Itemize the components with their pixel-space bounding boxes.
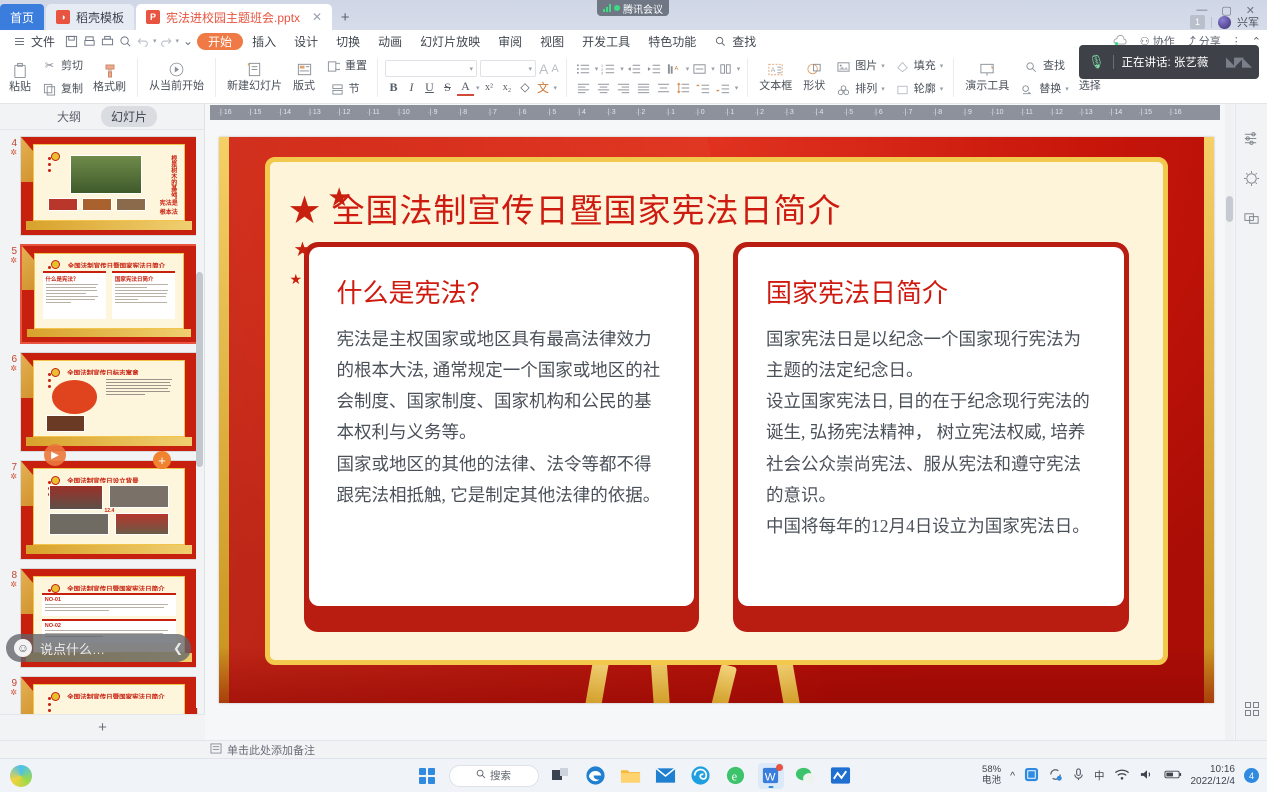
wechat-icon[interactable]: [793, 763, 819, 789]
divider: [747, 58, 748, 97]
slide-number: 5✲: [4, 244, 20, 266]
align-text-button[interactable]: [690, 60, 709, 77]
play-slideshow-button[interactable]: ▶: [44, 444, 66, 466]
slide-number: 4✲: [4, 136, 20, 158]
docer-icon: ◑: [56, 10, 70, 24]
ruler-tick: ·|·9: [952, 109, 982, 116]
ruler-tick: ·|·7: [477, 109, 507, 116]
cut-button[interactable]: ✂ 剪切: [38, 56, 86, 77]
slide-number: 9✲: [4, 676, 20, 698]
hamburger-icon: [11, 33, 28, 50]
gold-edge-right: [1204, 137, 1214, 703]
content-card-right[interactable]: 国家宪法日简介 国家宪法日是以纪念一个国家现行宪法为主题的法定纪念日。 设立国家…: [733, 242, 1129, 632]
chevron-down-icon[interactable]: ▾: [881, 86, 885, 94]
outline-button[interactable]: 轮廓 ▾: [891, 79, 947, 100]
ruler-tick: ·|·14: [269, 109, 299, 116]
cut-label: 剪切: [61, 60, 83, 72]
line-spacing-button[interactable]: [674, 79, 693, 96]
tab-label: 宪法进校园主题班会.pptx: [166, 9, 300, 26]
badge-icon: [776, 764, 783, 771]
ribbon-tab-transition[interactable]: 切换: [327, 31, 369, 51]
ruler-tick: ·|·16: [1160, 109, 1190, 116]
ruler-tick: ·|·0: [685, 109, 715, 116]
grid-view-icon[interactable]: [1244, 701, 1260, 722]
list-item[interactable]: 9✲ 全国法制宣传日暨国家宪法日简介: [0, 676, 205, 714]
star-decoration-icon: ★: [288, 192, 322, 230]
ie-icon[interactable]: e: [723, 763, 749, 789]
system-tray: 58% 电池 ^ 中 10:16: [982, 764, 1259, 787]
right-tool-rail: [1235, 104, 1267, 740]
chevron-down-icon[interactable]: ▾: [711, 65, 715, 73]
divider: [137, 58, 138, 97]
ruler-tick: ·|·9: [418, 109, 448, 116]
speaking-label: 正在讲话: 张艺薇: [1122, 54, 1209, 70]
decrease-indent-button[interactable]: [625, 60, 644, 77]
chevron-down-icon[interactable]: ▾: [881, 63, 885, 71]
copy-label: 复制: [61, 83, 83, 95]
section-icon: [329, 81, 346, 98]
section-label: 节: [349, 83, 360, 95]
tab-label: 稻壳模板: [76, 9, 124, 26]
wps-icon[interactable]: W: [758, 763, 784, 789]
chevron-down-icon[interactable]: ▾: [686, 65, 690, 73]
save-icon[interactable]: [62, 32, 80, 50]
picture-button[interactable]: 图片 ▾: [832, 56, 888, 77]
ruler-tick: ·|·15: [1130, 109, 1160, 116]
ruler-tick: ·|·3: [596, 109, 626, 116]
ruler-tick: ·|·4: [804, 109, 834, 116]
chat-placeholder: 说点什么…: [40, 639, 165, 658]
card-paragraph: 中国将每年的12月4日设立为国家宪法日。: [766, 511, 1096, 542]
edge-icon[interactable]: [583, 763, 609, 789]
thumb-title: 全国法制宣传日暨国家宪法日简介: [67, 583, 172, 591]
sync-icon[interactable]: [1048, 767, 1063, 785]
divider: [377, 58, 378, 97]
divider: [215, 58, 216, 97]
ruler-tick: ·|·1: [715, 109, 745, 116]
stock-app-icon[interactable]: [828, 763, 854, 789]
close-icon[interactable]: ✕: [312, 11, 322, 23]
card-paragraph: 国家宪法日是以纪念一个国家现行宪法为主题的法定纪念日。: [766, 324, 1096, 386]
current-slide-canvas[interactable]: ★ ★ ★ ★ 全国法制宣传日暨国家宪法日简介 什么是宪法？ 宪法是主权国家或地…: [219, 137, 1214, 703]
search-input[interactable]: 搜索: [449, 765, 539, 787]
print-preview-icon[interactable]: [80, 32, 98, 50]
space-before-button[interactable]: [694, 79, 713, 96]
recording-dot-icon: [614, 5, 620, 11]
avatar[interactable]: [1218, 16, 1231, 29]
ruler-tick: ·|·10: [388, 109, 418, 116]
duplicate-icon[interactable]: [1243, 210, 1260, 232]
layout-button[interactable]: 版式: [289, 59, 319, 96]
tab-strip: 首页 ◑ 稻壳模板 P 宪法进校园主题班会.pptx ✕ + 腾讯会议 — ▢ …: [0, 0, 1267, 30]
underline-button[interactable]: U: [421, 79, 438, 96]
ruler-tick: ·|·16: [210, 109, 240, 116]
superscript-button[interactable]: x²: [481, 79, 498, 96]
ribbon-tab-devtools[interactable]: 开发工具: [573, 31, 639, 51]
divider: [953, 58, 954, 97]
thumb-title: 全国法制宣传日标志寓意: [67, 367, 172, 375]
tab-docer-template[interactable]: ◑ 稻壳模板: [46, 4, 134, 30]
ruler-tick: ·|·5: [833, 109, 863, 116]
windows-taskbar: 搜索 e W: [0, 758, 1267, 792]
distribute-button[interactable]: [654, 79, 673, 96]
search-icon: [476, 769, 486, 782]
thumb-title: 全国法制宣传日暨国家宪法日简介: [67, 691, 172, 699]
time-label: 10:16: [1191, 764, 1236, 776]
svg-text:3: 3: [601, 71, 603, 74]
screenshot-icon[interactable]: [1024, 767, 1039, 785]
ruler-tick: ·|·8: [923, 109, 953, 116]
chevron-down-icon[interactable]: ▾: [469, 65, 473, 73]
ribbon-toolbar: 粘贴 ✂ 剪切 复制 格式刷: [0, 52, 1267, 104]
design-ideas-icon[interactable]: [1243, 170, 1260, 192]
align-right-button[interactable]: [614, 79, 633, 96]
tab-outline[interactable]: 大纲: [47, 106, 91, 127]
columns-button[interactable]: [716, 60, 735, 77]
ime-indicator[interactable]: 中: [1094, 768, 1105, 783]
content-card-left[interactable]: 什么是宪法？ 宪法是主权国家或地区具有最高法律效力的根本大法, 通常规定一个国家…: [304, 242, 700, 632]
chevron-left-icon[interactable]: ❮: [173, 641, 183, 655]
battery-label: 电池: [982, 776, 1001, 787]
slide-thumbnail[interactable]: 全国法制宣传日暨国家宪法日简介: [20, 676, 198, 714]
list-item[interactable]: 4✲ 根是树木的基础。 宪法是根本法: [0, 136, 205, 244]
tab-home[interactable]: 首页: [0, 4, 44, 30]
notes-placeholder: 单击此处添加备注: [227, 742, 315, 758]
cut-icon: ✂: [41, 58, 58, 75]
ruler-tick: ·|·11: [358, 109, 388, 116]
chevron-down-icon[interactable]: ▾: [620, 65, 624, 73]
align-center-button[interactable]: [594, 79, 613, 96]
layout-icon: [296, 61, 313, 78]
fill-label: 填充: [914, 60, 936, 72]
slide-thumbnail-selected[interactable]: 全国法制宣传日暨国家宪法日简介 什么是宪法？ 国家宪法日简介: [20, 244, 198, 344]
ribbon-tab-slideshow[interactable]: 幻灯片放映: [411, 31, 489, 51]
taskbar-apps: 搜索 e W: [414, 763, 854, 789]
italic-button[interactable]: I: [403, 79, 420, 96]
card-body: 宪法是主权国家或地区具有最高法律效力的根本大法, 通常规定一个国家或地区的社会制…: [337, 324, 667, 511]
mail-icon[interactable]: [653, 763, 679, 789]
navigator-tabs: 大纲 幻灯片: [0, 104, 204, 130]
date-label: 2022/12/4: [1191, 776, 1236, 788]
slide-thumbnail-list[interactable]: 4✲ 根是树木的基础。 宪法是根本法: [0, 130, 205, 714]
align-left-button[interactable]: [574, 79, 593, 96]
shape-icon: [806, 61, 823, 78]
justify-button[interactable]: [634, 79, 653, 96]
copy-icon: [41, 81, 58, 98]
textbox-label: 文本框: [759, 80, 792, 92]
notification-badge[interactable]: 1: [1190, 15, 1205, 29]
font-color-button[interactable]: A: [457, 79, 474, 96]
ribbon-tab-view[interactable]: 视图: [531, 31, 573, 51]
textbox-icon: A: [767, 61, 784, 78]
undo-icon[interactable]: [134, 32, 152, 50]
notes-button[interactable]: 单击此处添加备注: [0, 742, 315, 758]
list-item[interactable]: 6✲ 全国法制宣传日标志寓意: [0, 352, 205, 460]
chevron-down-icon[interactable]: ▾: [1065, 86, 1069, 94]
section-button[interactable]: 节: [322, 79, 370, 100]
meeting-status-badge[interactable]: 腾讯会议: [597, 0, 669, 16]
plus-icon[interactable]: +: [98, 719, 107, 736]
format-painter-icon: [101, 62, 118, 79]
ruler-tick: ·|·11: [1012, 109, 1042, 116]
paste-button[interactable]: 粘贴: [5, 60, 35, 95]
paste-icon: [12, 62, 29, 79]
active-indicator: [768, 786, 773, 788]
find-label: 查找: [732, 33, 756, 50]
slide-number: 6✲: [4, 352, 20, 374]
tab-slides[interactable]: 幻灯片: [101, 106, 157, 127]
ppt-icon: P: [146, 10, 160, 24]
replace-icon: [1019, 81, 1036, 98]
select-label: 选择: [1079, 80, 1101, 92]
chevron-down-icon[interactable]: ▾: [595, 65, 599, 73]
menu-file[interactable]: 文件: [4, 31, 62, 51]
chevron-down-icon[interactable]: ▾: [476, 84, 480, 92]
arrange-label: 排列: [855, 83, 877, 95]
ribbon-find-button[interactable]: 查找: [705, 31, 763, 51]
find-icon: [1023, 58, 1040, 75]
chevron-down-icon[interactable]: ▾: [528, 65, 532, 73]
gold-edge-left: [219, 137, 229, 703]
ribbon-tab-design[interactable]: 设计: [285, 31, 327, 51]
ruler-tick: ·|·1: [655, 109, 685, 116]
slide-title[interactable]: 全国法制宣传日暨国家宪法日简介: [332, 184, 842, 232]
battery-status[interactable]: 58% 电池: [982, 765, 1001, 787]
font-size-input[interactable]: ▾: [480, 60, 536, 77]
battery-percent: 58%: [982, 765, 1001, 776]
ruler-tick: ·|·6: [507, 109, 537, 116]
clock[interactable]: 10:16 2022/12/4: [1191, 764, 1236, 787]
numbering-button[interactable]: 123: [599, 60, 618, 77]
ruler-tick: ·|·13: [1071, 109, 1101, 116]
slide-thumbnail[interactable]: 全国法制宣传日设立背景 12.4: [20, 460, 198, 560]
svg-text:e: e: [732, 769, 738, 783]
slide-thumbnail[interactable]: 根是树木的基础。 宪法是根本法: [20, 136, 198, 236]
menu-bar: 文件 ▾ ▾ ⌄ 开始 插入 设计 切换 动画 幻灯片放映 审阅 视图 开发工具: [0, 30, 1267, 52]
outline-icon: [894, 81, 911, 98]
ruler-tick: ·|·15: [240, 109, 270, 116]
card-body: 国家宪法日是以纪念一个国家现行宪法为主题的法定纪念日。 设立国家宪法日, 目的在…: [766, 324, 1096, 542]
fill-button[interactable]: 填充 ▾: [891, 56, 947, 77]
chevron-down-icon[interactable]: ▾: [940, 63, 944, 71]
ribbon-tab-review[interactable]: 审阅: [489, 31, 531, 51]
file-explorer-icon[interactable]: [618, 763, 644, 789]
svg-text:A: A: [674, 65, 678, 71]
present-tool-label: 演示工具: [965, 80, 1009, 92]
ribbon-group-start-show: 从当前开始: [140, 52, 213, 104]
format-painter-label: 格式刷: [93, 81, 126, 93]
ruler-ticks: ·|·16·|·15·|·14·|·13·|·12·|·11·|·10·|·9·…: [210, 105, 1190, 120]
card-paragraph: 设立国家宪法日, 目的在于纪念现行宪法的诞生, 弘扬宪法精神， 树立宪法权威, …: [766, 386, 1096, 511]
ribbon-group-paragraph: ▾ 123 ▾ A ▾: [569, 52, 746, 104]
slide-settings-icon[interactable]: [1243, 130, 1260, 152]
thumb-title: 全国法制宣传日设立背景: [67, 475, 172, 483]
status-bar: 单击此处添加备注: [0, 740, 1267, 758]
slide-thumbnail[interactable]: 全国法制宣传日标志寓意: [20, 352, 198, 452]
chevron-down-icon[interactable]: ▾: [940, 86, 944, 94]
format-painter-button[interactable]: 格式刷: [89, 60, 130, 95]
slide-content-panel: ★ ★ ★ ★ 全国法制宣传日暨国家宪法日简介 什么是宪法？ 宪法是主权国家或地…: [265, 157, 1168, 665]
ruler-tick: ·|·10: [982, 109, 1012, 116]
thumb-title: 全国法制宣传日暨国家宪法日简介: [68, 260, 171, 268]
signal-icon: [603, 4, 611, 12]
smiley-icon[interactable]: ☺: [14, 639, 32, 657]
chevron-down-icon[interactable]: ▾: [554, 84, 558, 92]
text-direction-button[interactable]: A: [665, 60, 684, 77]
arrange-button[interactable]: 排列 ▾: [832, 79, 888, 100]
customize-qat-icon[interactable]: ⌄: [179, 32, 197, 50]
play-from-current-icon: [168, 61, 185, 78]
present-tool-button[interactable]: 演示工具: [961, 59, 1013, 96]
pinyin-button[interactable]: 文: [535, 79, 552, 96]
present-tool-icon: [979, 61, 996, 78]
replace-button[interactable]: 替换 ▾: [1016, 79, 1072, 100]
battery-icon[interactable]: [1164, 769, 1182, 783]
start-from-current-label: 从当前开始: [149, 80, 204, 92]
list-item[interactable]: 7✲ 全国法制宣传日设立背景 12.4: [0, 460, 205, 568]
font-name-input[interactable]: ▾: [385, 60, 477, 77]
copy-button[interactable]: 复制: [38, 79, 86, 100]
bullets-button[interactable]: [574, 60, 593, 77]
slide-editor-area: ·|·16·|·15·|·14·|·13·|·12·|·11·|·10·|·9·…: [205, 104, 1235, 740]
ribbon-group-slides: 新建幻灯片 版式 重置: [218, 52, 375, 104]
menu-file-label: 文件: [31, 33, 55, 50]
ruler-tick: ·|·12: [1041, 109, 1071, 116]
layout-label: 版式: [293, 80, 315, 92]
ribbon-group-font: ▾ ▾ A A B I U S A ▾ x² x: [380, 52, 564, 104]
fill-icon: [894, 58, 911, 75]
tab-presentation-file[interactable]: P 宪法进校园主题班会.pptx ✕: [136, 4, 332, 30]
strikethrough-button[interactable]: S: [439, 79, 456, 96]
ruler-tick: ·|·4: [566, 109, 596, 116]
outline-label: 轮廓: [914, 83, 936, 95]
meeting-label: 腾讯会议: [623, 1, 663, 16]
picture-label: 图片: [855, 60, 877, 72]
picture-icon: [835, 58, 852, 75]
notification-center-badge[interactable]: 4: [1244, 768, 1259, 783]
search-placeholder: 搜索: [490, 768, 511, 783]
search-doc-icon[interactable]: [116, 32, 134, 50]
increase-indent-button[interactable]: [645, 60, 664, 77]
card-paragraph: 宪法是主权国家或地区具有最高法律效力的根本大法, 通常规定一个国家或地区的社会制…: [337, 324, 667, 449]
ruler-tick: ·|·12: [329, 109, 359, 116]
textbox-button[interactable]: A 文本框: [755, 59, 796, 96]
volume-icon[interactable]: [1139, 768, 1155, 784]
ruler-tick: ·|·2: [744, 109, 774, 116]
divider: [1113, 55, 1114, 69]
navigator-scrollbar-thumb[interactable]: [196, 272, 203, 467]
desktop-orb-icon[interactable]: [10, 765, 32, 787]
horizontal-ruler[interactable]: ·|·16·|·15·|·14·|·13·|·12·|·11·|·10·|·9·…: [210, 105, 1220, 120]
ruler-tick: ·|·8: [448, 109, 478, 116]
slide-stage: ★ ★ ★ ★ 全国法制宣传日暨国家宪法日简介 什么是宪法？ 宪法是主权国家或地…: [205, 126, 1227, 734]
slide-navigator-panel: 大纲 幻灯片 4✲: [0, 104, 205, 740]
slide-card-row: 什么是宪法？ 宪法是主权国家或地区具有最高法律效力的根本大法, 通常规定一个国家…: [304, 242, 1129, 632]
ribbon-tab-insert[interactable]: 插入: [243, 31, 285, 51]
new-slide-button[interactable]: 新建幻灯片: [223, 59, 286, 96]
ribbon-group-insert: A 文本框 形状 图片 ▾: [750, 52, 951, 104]
new-slide-icon: [246, 61, 263, 78]
space-after-button[interactable]: [714, 79, 733, 96]
ruler-tick: ·|·3: [774, 109, 804, 116]
bold-button[interactable]: B: [385, 79, 402, 96]
find-button[interactable]: 查找: [1016, 56, 1072, 77]
chevron-down-icon[interactable]: ▾: [737, 65, 741, 73]
reset-button[interactable]: 重置: [322, 56, 370, 77]
ruler-tick: ·|·7: [893, 109, 923, 116]
clear-format-button[interactable]: ◇: [517, 79, 534, 96]
shape-button[interactable]: 形状: [799, 59, 829, 96]
card-heading: 国家宪法日简介: [766, 273, 1096, 310]
shape-label: 形状: [803, 80, 825, 92]
slide-number: 8✲: [4, 568, 20, 590]
ribbon-tab-animation[interactable]: 动画: [369, 31, 411, 51]
ribbon-tab-start[interactable]: 开始: [197, 33, 243, 50]
meeting-chat-input-bar[interactable]: ☺ 说点什么… ❮: [6, 634, 191, 662]
ruler-tick: ·|·14: [1101, 109, 1131, 116]
slide-number: 7✲: [4, 460, 20, 482]
search-icon: [712, 33, 729, 50]
chevron-down-icon[interactable]: ▾: [735, 84, 739, 92]
ribbon-tab-features[interactable]: 特色功能: [639, 31, 705, 51]
task-view-icon[interactable]: [548, 763, 574, 789]
reset-label: 重置: [345, 60, 367, 72]
ruler-tick: ·|·5: [537, 109, 567, 116]
360-browser-icon[interactable]: [688, 763, 714, 789]
grow-font-button[interactable]: A: [539, 61, 548, 77]
card-heading: 什么是宪法？: [337, 273, 667, 310]
waveform-icon: ◣◤◣: [1226, 54, 1250, 70]
svg-text:A: A: [771, 67, 776, 74]
add-slide-button[interactable]: +: [153, 451, 171, 469]
divider: [566, 58, 567, 97]
svg-text:W: W: [765, 771, 776, 783]
start-icon[interactable]: [414, 763, 440, 789]
ruler-tick: ·|·2: [626, 109, 656, 116]
arrange-icon: [835, 81, 852, 98]
paste-label: 粘贴: [9, 81, 31, 93]
microphone-icon[interactable]: [1072, 767, 1085, 785]
user-name: 兴军: [1237, 14, 1259, 30]
start-from-current-button[interactable]: 从当前开始: [145, 59, 208, 96]
microphone-icon: 🎙: [1088, 54, 1105, 70]
subscript-button[interactable]: x₂: [499, 79, 516, 96]
wps-presentation-window: 首页 ◑ 稻壳模板 P 宪法进校园主题班会.pptx ✕ + 腾讯会议 — ▢ …: [0, 0, 1267, 792]
reset-icon: [325, 58, 342, 75]
ribbon-group-clipboard: 粘贴 ✂ 剪切 复制 格式刷: [0, 52, 135, 104]
star-decoration-icon: ★: [290, 272, 303, 286]
navigator-add-slide-bar[interactable]: +: [0, 714, 205, 740]
divider: [1211, 17, 1212, 28]
editor-scrollbar-thumb[interactable]: [1226, 196, 1233, 222]
wifi-icon[interactable]: [1114, 768, 1130, 784]
card-paragraph: 国家或地区的其他的法律、法令等都不得跟宪法相抵触, 它是制定其他法律的依据。: [337, 449, 667, 511]
speaking-overlay[interactable]: 🎙 正在讲话: 张艺薇 ◣◤◣: [1079, 45, 1259, 79]
replace-label: 替换: [1039, 83, 1061, 95]
new-tab-button[interactable]: +: [332, 4, 358, 30]
notes-icon: [210, 743, 222, 757]
shrink-font-button[interactable]: A: [551, 63, 558, 75]
redo-icon[interactable]: [157, 32, 175, 50]
new-slide-label: 新建幻灯片: [227, 80, 282, 92]
user-bar: 1 兴军: [1190, 14, 1259, 30]
find-label: 查找: [1043, 60, 1065, 72]
ruler-tick: ·|·13: [299, 109, 329, 116]
ruler-tick: ·|·6: [863, 109, 893, 116]
show-hidden-icons-icon[interactable]: ^: [1010, 770, 1015, 782]
list-item[interactable]: 5✲ 全国法制宣传日暨国家宪法日简介 什么是宪法？: [0, 244, 205, 352]
print-icon[interactable]: [98, 32, 116, 50]
